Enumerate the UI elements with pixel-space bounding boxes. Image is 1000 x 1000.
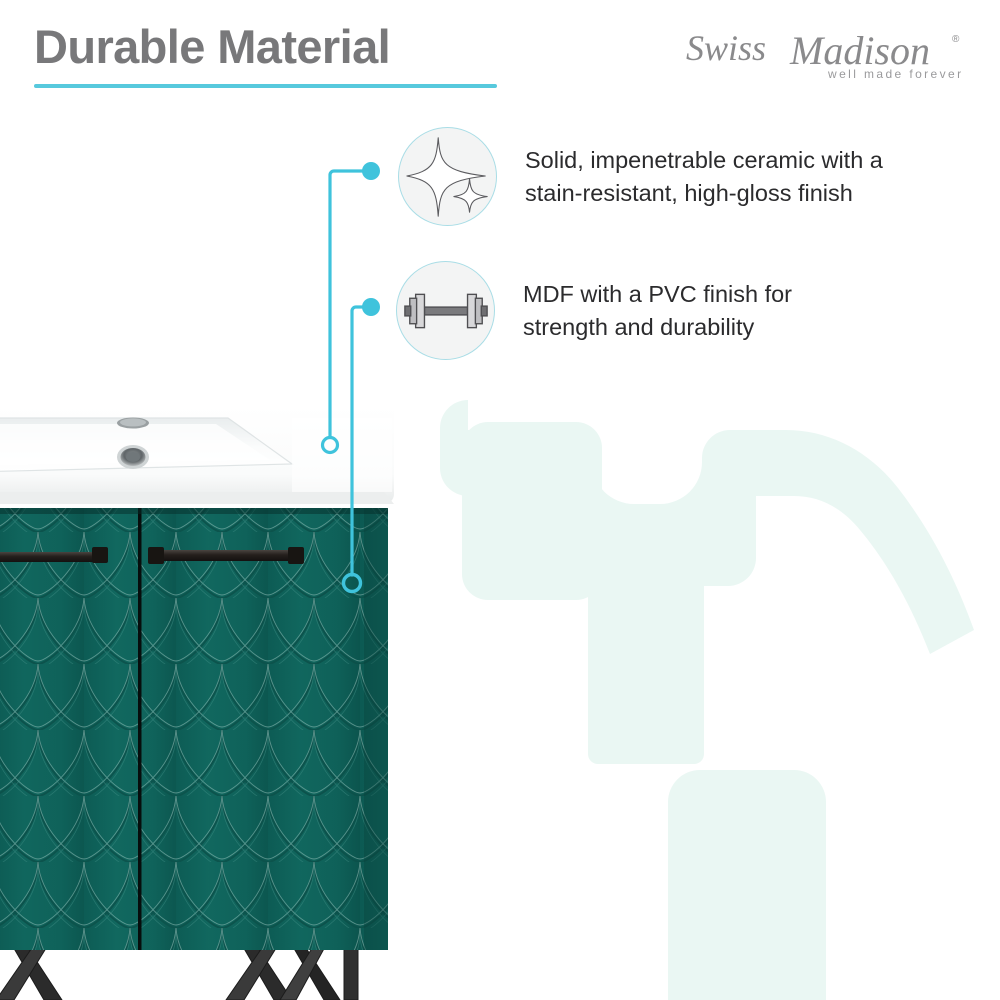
infographic-canvas: Durable Material Swiss Madison ® well ma… [0,0,1000,1000]
callout-ceramic-line1: Solid, impenetrable ceramic with a [525,147,883,173]
registered-mark-icon: ® [952,34,960,45]
brand-tagline: well made forever [827,67,964,81]
connector-dot-mdf [362,298,380,316]
ceramic-sink-top [0,406,394,504]
brand-word-swiss: Swiss [686,28,766,68]
brand-logo: Swiss Madison ® well made forever [680,22,980,84]
sparkle-shine-icon [398,127,497,226]
dumbbell-strength-icon [396,261,495,360]
callout-ceramic-line2: stain-resistant, high-gloss finish [525,180,853,206]
cabinet-body [0,508,388,950]
header: Durable Material Swiss Madison ® well ma… [0,0,1000,110]
callout-mdf-text: MDF with a PVC finish for strength and d… [523,278,792,343]
product-vanity-image [0,400,412,1000]
callout-ceramic-text: Solid, impenetrable ceramic with a stain… [525,144,883,209]
page-title: Durable Material [34,22,390,71]
sink-drain [117,445,149,469]
bar-handle-right [148,550,304,561]
angled-metal-legs [0,945,358,1000]
callout-mdf: MDF with a PVC finish for strength and d… [396,261,792,360]
bar-handle-left [0,552,108,562]
connector-dot-ceramic [362,162,380,180]
callout-mdf-line2: strength and durability [523,314,754,340]
connector-path-ceramic [330,171,362,437]
cabinet-door-seam [138,508,142,950]
title-underline [34,84,497,88]
callout-ceramic: Solid, impenetrable ceramic with a stain… [398,127,883,226]
callout-mdf-line1: MDF with a PVC finish for [523,281,792,307]
